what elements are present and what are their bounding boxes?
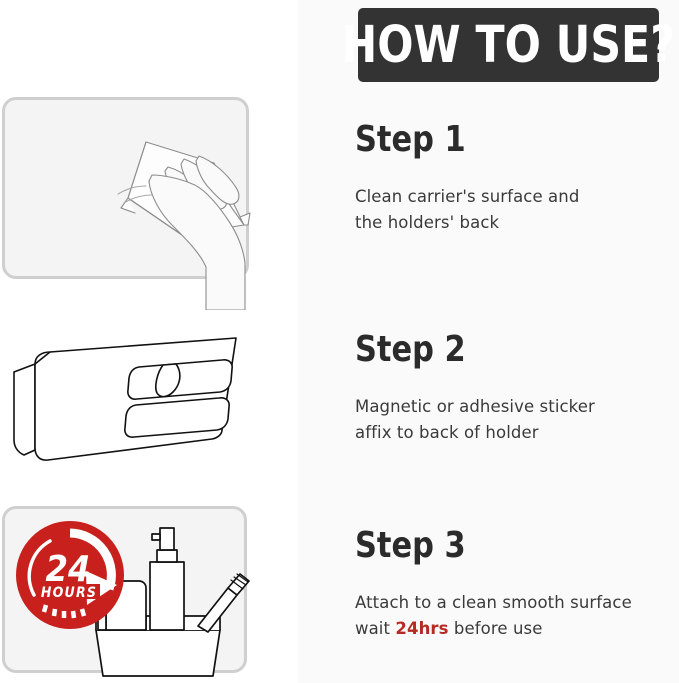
step-2-description: Magnetic or adhesive sticker affix to ba… — [355, 394, 675, 445]
24-hours-badge-icon: 24 HOURS — [14, 519, 126, 631]
illustration-column: 24 HOURS — [0, 0, 298, 683]
instructions-column: HOW TO USE? Step 1 Clean carrier's surfa… — [298, 0, 679, 683]
step-3-line1: Attach to a clean smooth surface — [355, 593, 632, 612]
step-item-1: Step 1 Clean carrier's surface and the h… — [355, 122, 675, 235]
step-3-line2-suffix: before use — [449, 619, 543, 638]
step-3-line2-prefix: wait — [355, 619, 395, 638]
step-3-duration-highlight: 24hrs — [395, 619, 448, 638]
badge-number: 24 — [45, 549, 90, 590]
step-3-title: Step 3 — [355, 528, 656, 564]
step-2-title: Step 2 — [355, 332, 656, 368]
holder-back-adhesive-strips-icon — [0, 322, 265, 497]
step-1-title: Step 1 — [355, 122, 656, 158]
badge-unit: HOURS — [41, 585, 97, 601]
page-title: HOW TO USE? — [342, 20, 675, 71]
step-item-2: Step 2 Magnetic or adhesive sticker affi… — [355, 332, 675, 445]
step-item-3: Step 3 Attach to a clean smooth surfacew… — [355, 528, 675, 641]
step-3-description: Attach to a clean smooth surfacewait 24h… — [355, 590, 675, 641]
infographic-page: 24 HOURS HOW TO USE? Step 1 Clean carrie… — [0, 0, 679, 683]
how-to-use-header: HOW TO USE? — [358, 8, 659, 82]
step1-illustration-backdrop — [2, 97, 249, 279]
step-1-description: Clean carrier's surface and the holders'… — [355, 184, 675, 235]
